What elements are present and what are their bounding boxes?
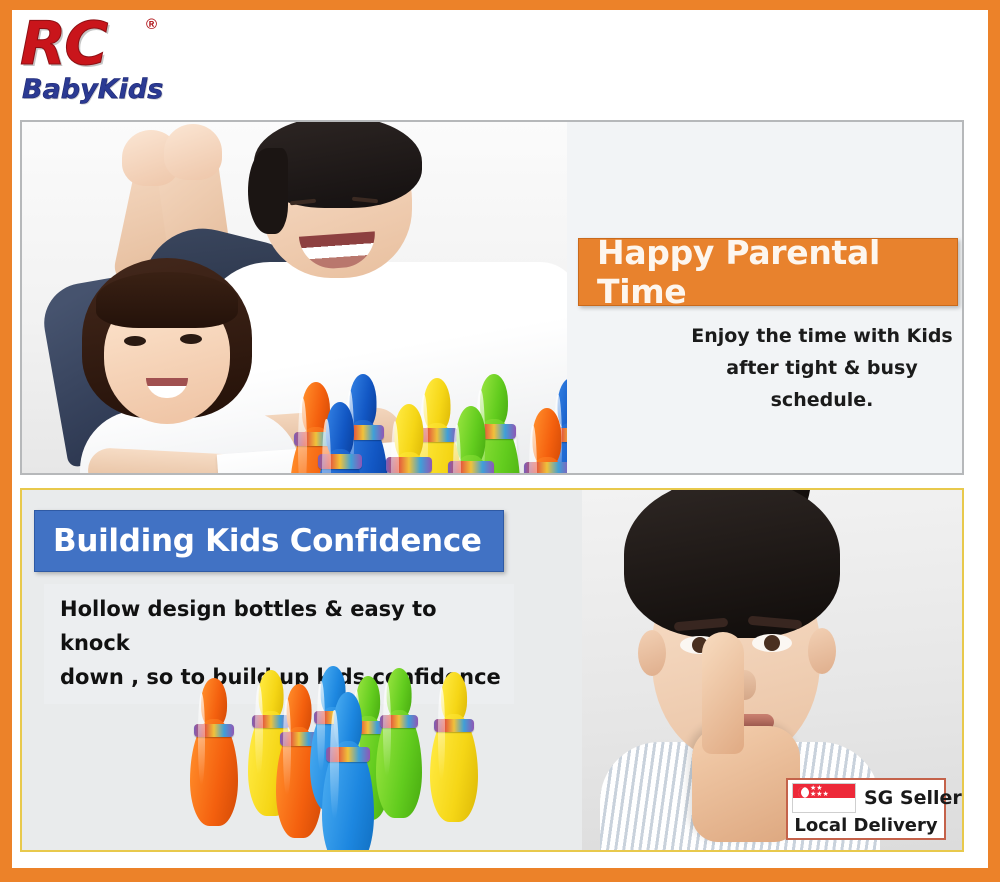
logo-rc-text: RC [20,14,106,74]
bowling-pin [190,678,238,826]
bowling-pin [376,668,422,818]
bowling-pin [322,692,374,852]
subtext-line-1: Enjoy the time with Kids [677,320,964,352]
sg-badge-row: ★★★★★ SG Seller [792,783,940,813]
logo-mark: RC ® BabyKids [20,14,170,80]
boy-hair [624,490,840,638]
local-delivery-label: Local Delivery [792,813,940,839]
banner-title: Building Kids Confidence [35,523,482,559]
photo-boy: ★★★★★ SG Seller Local Delivery [582,490,962,850]
subtext-line-1: Hollow design bottles & easy to knock [60,592,504,660]
bowling-pin [314,402,366,473]
bowling-pin [382,404,436,473]
boy-ear [638,630,666,676]
father-hair [248,148,288,234]
bowling-pins-group-bottom [190,662,470,840]
panel-happy-parental-time: Happy Parental Time Enjoy the time with … [20,120,964,475]
boy-eye [752,634,792,652]
singapore-flag-icon: ★★★★★ [792,783,856,813]
poster-canvas: RC ® BabyKids [12,10,988,868]
crescent-icon [798,787,809,798]
girl-bangs [96,272,238,328]
bowling-pin [444,406,498,473]
boy-ear [808,628,836,674]
banner-happy-parental-time: Happy Parental Time [578,238,958,306]
subtext-line-2: after tight & busy schedule. [677,352,964,416]
poster-frame: RC ® BabyKids [0,0,1000,882]
sg-seller-badge: ★★★★★ SG Seller Local Delivery [786,778,946,840]
bowling-pin [520,408,567,473]
bowling-pins-group-top [284,370,567,473]
sg-seller-label: SG Seller [856,787,962,809]
logo-subtitle: BabyKids [22,76,163,103]
panel-building-kids-confidence: Building Kids Confidence Hollow design b… [20,488,964,852]
registered-trademark-icon: ® [146,16,157,33]
brand-logo[interactable]: RC ® BabyKids [20,14,240,118]
photo-family [22,122,567,473]
banner-building-kids-confidence: Building Kids Confidence [34,510,504,572]
stars-icon: ★★★★★ [810,786,829,798]
girl-eye [124,336,146,346]
banner-title: Happy Parental Time [579,233,957,311]
foot-shape [164,124,222,180]
thumbs-up-thumb [702,632,744,754]
girl-eye [180,334,202,344]
panel-top-subtext: Enjoy the time with Kids after tight & b… [677,320,964,416]
bowling-pin [430,672,478,822]
